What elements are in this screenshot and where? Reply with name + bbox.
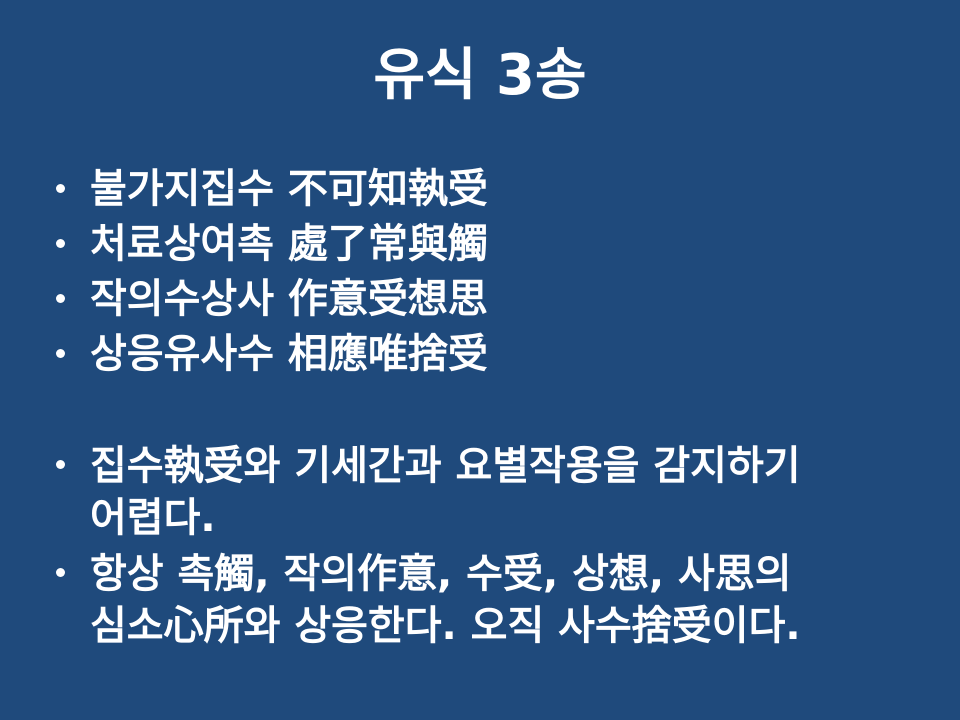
list-item[interactable]: 집수執受와 기세간과 요별작용을 감지하기 어렵다.: [46, 440, 914, 544]
list-item-label: 상응유사수 相應唯捨受: [90, 327, 914, 382]
list-item-label: 작의수상사 作意受想思: [90, 272, 914, 327]
list-item-label: 항상 촉觸, 작의作意, 수受, 상想, 사思의 심소心所와 상응한다. 오직 …: [90, 548, 914, 652]
list-item[interactable]: 처료상여촉 處了常與觸: [46, 217, 914, 272]
list-item[interactable]: 작의수상사 作意受想思: [46, 272, 914, 327]
list-item-label: 불가지집수 不可知執受: [90, 162, 914, 217]
list-item[interactable]: 상응유사수 相應唯捨受: [46, 327, 914, 382]
bullet-dot-icon: [56, 349, 65, 358]
list-item[interactable]: 항상 촉觸, 작의作意, 수受, 상想, 사思의 심소心所와 상응한다. 오직 …: [46, 548, 914, 652]
presentation-slide: 유식 3송 불가지집수 不可知執受 처료상여촉 處了常與觸 작의수상사 作意受想…: [0, 0, 960, 720]
bullet-group-1: 불가지집수 不可知執受 처료상여촉 處了常與觸 작의수상사 作意受想思 상응유사…: [46, 162, 914, 382]
blank-line-spacer: [46, 382, 914, 440]
slide-title: 유식 3송: [0, 44, 960, 108]
slide-body: 불가지집수 不可知執受 처료상여촉 處了常與觸 작의수상사 作意受想思 상응유사…: [46, 162, 914, 656]
list-item-label: 처료상여촉 處了常與觸: [90, 217, 914, 272]
bullet-group-2: 집수執受와 기세간과 요별작용을 감지하기 어렵다. 항상 촉觸, 작의作意, …: [46, 440, 914, 652]
bullet-dot-icon: [56, 568, 65, 577]
list-item[interactable]: 불가지집수 不可知執受: [46, 162, 914, 217]
bullet-dot-icon: [56, 239, 65, 248]
bullet-dot-icon: [56, 184, 65, 193]
list-item-label: 집수執受와 기세간과 요별작용을 감지하기 어렵다.: [90, 440, 914, 544]
bullet-dot-icon: [56, 294, 65, 303]
bullet-dot-icon: [56, 460, 65, 469]
